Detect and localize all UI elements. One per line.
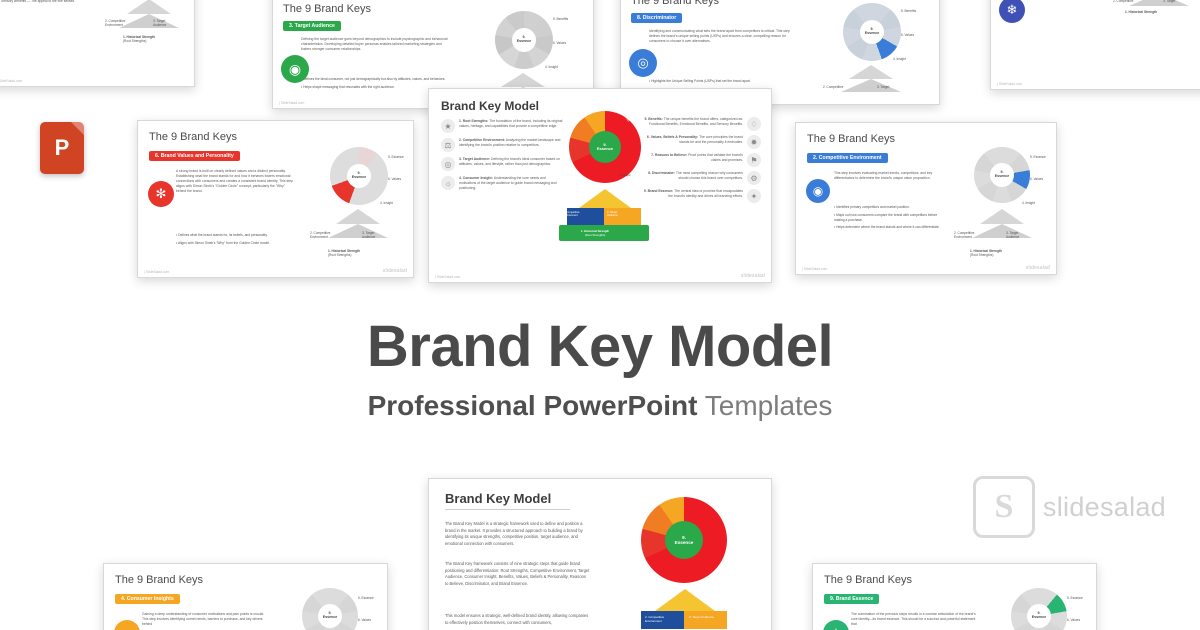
model-point: 9. Brand Essence: The central idea or pr… [639, 189, 761, 203]
slide-footer: | SlideSalad.com [997, 82, 1022, 86]
brand-key-diagram: 9.Essence 1. Root Strengths 5. Benefits … [561, 111, 647, 271]
intro-paragraph: This model ensures a strategic, well-def… [445, 613, 590, 626]
page-subtitle: Professional PowerPoint Templates [0, 390, 1200, 422]
bullet-item: • Identifies primary competitors and mar… [834, 205, 946, 210]
mini-brand-key-diagram: 9.Essence 5. Essence 6. Values 4. Insigh… [306, 143, 414, 265]
donut-ring: 9.Essence [843, 3, 901, 61]
donut-ring: 9.Essence [302, 588, 358, 630]
discriminator-icon: ◎ [629, 49, 657, 77]
competitive-environment-icon: ⚖ [441, 138, 455, 152]
mini-brand-key-diagram: 9.Essence 5. Benefits 6. Values 4. Insig… [101, 0, 193, 61]
model-point: 8. Discriminator: The most compelling re… [639, 171, 761, 185]
donut-center: 9.Essence [990, 163, 1014, 187]
slide-brand-essence[interactable]: The 9 Brand Keys 9. Brand Essence The cu… [812, 563, 1097, 630]
mini-brand-key-diagram: 9.Essence 5. Benefits 6. Values 4. Insig… [1109, 0, 1200, 20]
donut-center: 9.Essence [860, 20, 884, 44]
slide-brand-values[interactable]: The 9 Brand Keys 6. Brand Values and Per… [137, 120, 414, 278]
bullet-item: • Maps out how consumers compare the bra… [834, 213, 946, 223]
slide-intro-brand-key-model[interactable]: Brand Key Model The Brand Key Model is a… [428, 478, 772, 630]
slide-consumer-insights[interactable]: The 9 Brand Keys 4. Consumer Insights Ga… [103, 563, 388, 630]
intro-title: Brand Key Model [445, 491, 570, 510]
slide-paragraph: Identifying and communicating what sets … [649, 29, 799, 44]
slide-footer: | SlideSalad.com [802, 267, 827, 271]
slide-paragraph: This step involves evaluating market tre… [834, 171, 944, 181]
intro-paragraph: The Brand Key framework consists of nine… [445, 561, 590, 587]
bullet-item: • Defines the ideal consumer, not just d… [301, 77, 451, 82]
slide-root-strengths-top[interactable]: The 9 Brand Keys 1. Root Strengths emoti… [0, 0, 195, 87]
essence-icon: ✦ [823, 620, 849, 630]
pyramid-top [579, 189, 631, 208]
slide-title: The 9 Brand Keys [824, 574, 912, 586]
snowflake-icon: ❄ [999, 0, 1025, 23]
slidesalad-logo: S slidesalad [973, 476, 1166, 538]
audience-icon: ◉ [281, 55, 309, 83]
slide-footer: | SlideSalad.com [0, 79, 22, 83]
competitive-icon: ◉ [806, 179, 830, 203]
donut-center: 9.Essence [1027, 604, 1051, 628]
slide-footer: | SlideSalad.com [279, 101, 304, 105]
subtitle-bold: Professional PowerPoint [368, 390, 698, 421]
bullet-item: • Defines what the brand stands for, its… [176, 233, 296, 238]
main-slide-title: Brand Key Model [441, 99, 539, 113]
discriminator-icon: ⚙ [747, 171, 761, 185]
slide-footer: | SlideSalad.com [144, 270, 169, 274]
slide-title: The 9 Brand Keys [283, 3, 371, 15]
donut-center: 9.Essence [318, 604, 342, 628]
benefits-icon: ♢ [747, 117, 761, 131]
model-point: ☼ 4. Consumer Insight: Understanding the… [441, 176, 563, 191]
pyramid-top [655, 589, 715, 611]
donut-ring: 9.Essence [641, 497, 727, 583]
slide-paragraph: Gaining a deep understanding of consumer… [142, 612, 267, 627]
donut-center: 9.Essence [665, 521, 703, 559]
slidesalad-mark: S [973, 476, 1035, 538]
slide-brand-key-model-main[interactable]: Brand Key Model ★ 1. Root Strengths: The… [428, 88, 772, 283]
bullet-item: • Sensory Benefits — The appeal to the f… [0, 0, 107, 3]
subtitle-light: Templates [705, 390, 833, 421]
brand-key-diagram: 9.Essence 2. CompetitiveEnvironment 3. T… [619, 497, 759, 630]
donut-ring: 9.Essence [974, 147, 1030, 203]
slide-reasons-to-believe-top[interactable]: 7. Reasons To Believe and legacy helps m… [990, 0, 1200, 90]
model-point: 7. Reasons to Believe: Proof points that… [639, 153, 761, 167]
root-strengths-icon: ★ [441, 119, 455, 133]
chip-label: 2. Competitive Environment [807, 153, 888, 163]
mini-brand-key-diagram: 9.Essence 5. Essence 6. Values 4. Insigh… [280, 584, 386, 630]
key-chip: 9. Brand Essence [824, 594, 879, 604]
intro-paragraph: The Brand Key Model is a strategic frame… [445, 521, 590, 547]
slide-title: The 9 Brand Keys [115, 574, 203, 586]
powerpoint-icon: P [40, 122, 84, 174]
brand-essence-icon: ✦ [747, 189, 761, 203]
slide-paragraph: A strong brand is built on clearly defin… [176, 169, 296, 195]
mini-brand-key-diagram: 9.Essence 5. Essence 6. Values 4. Insigh… [952, 143, 1057, 265]
chip-label: 4. Consumer Insights [115, 594, 180, 604]
chip-label: 3. Target Audience [283, 21, 341, 31]
ppt-fold [71, 122, 84, 135]
slide-title: The 9 Brand Keys [149, 131, 237, 143]
key-chip: 3. Target Audience [283, 21, 341, 31]
target-audience-icon: ◎ [441, 157, 455, 171]
bullet-item: • Highlights the Unique Selling Points (… [649, 79, 799, 84]
slide-title: The 9 Brand Keys [631, 0, 719, 7]
bullet-item: • Aligns with Simon Sinek's "Why" from t… [176, 241, 296, 246]
chip-label: 8. Discriminator [631, 13, 682, 23]
slide-competitive-environment[interactable]: The 9 Brand Keys 2. Competitive Environm… [795, 122, 1057, 275]
bullet-item: • Helps determine where the brand stands… [834, 225, 946, 230]
values-icon: ✻ [148, 181, 174, 207]
chip-label: 6. Brand Values and Personality [149, 151, 240, 161]
donut-ring: 9.Essence [1011, 588, 1067, 630]
donut-center: 9.Essence [512, 28, 536, 52]
donut-ring: 9.Essence [495, 11, 553, 69]
poster-stage: The 9 Brand Keys 1. Root Strengths emoti… [0, 0, 1200, 630]
model-point: ◎ 3. Target Audience: Defining the brand… [441, 157, 563, 171]
donut-center: 9.Essence [589, 131, 621, 163]
consumer-insight-icon: ☼ [441, 176, 455, 190]
hero-block: Brand Key Model Professional PowerPoint … [0, 318, 1200, 422]
model-point: 6. Values, Beliefs & Personality: The co… [639, 135, 761, 149]
slide-brandmark: slidesalad [1026, 265, 1050, 271]
model-point: ★ 1. Root Strengths: The foundation of t… [441, 119, 563, 133]
reasons-to-believe-icon: ⚑ [747, 153, 761, 167]
key-chip: 8. Discriminator [631, 13, 682, 23]
slide-paragraph: Defining the target audience goes beyond… [301, 37, 451, 52]
powerpoint-letter: P [55, 135, 70, 161]
slide-paragraph: The culmination of the previous steps re… [851, 612, 976, 627]
slide-brandmark: slidesalad [741, 273, 765, 279]
slide-footer: | SlideSalad.com [435, 275, 460, 279]
chip-label: 9. Brand Essence [824, 594, 879, 604]
mini-brand-key-diagram: 9.Essence 5. Benefits 6. Values 4. Insig… [817, 0, 937, 99]
donut-ring: 9.Essence [330, 147, 388, 205]
slide-brandmark: slidesalad [383, 268, 407, 274]
slidesalad-wordmark: slidesalad [1043, 492, 1166, 523]
model-point: 5. Benefits: The unique benefits the bra… [639, 117, 761, 131]
key-chip: 4. Consumer Insights [115, 594, 180, 604]
mini-brand-key-diagram: 9.Essence 5. Essence 6. Values 4. Insigh… [989, 584, 1095, 630]
donut-center: 9.Essence [347, 164, 371, 188]
slide-title: The 9 Brand Keys [807, 133, 895, 145]
key-chip: 2. Competitive Environment [807, 153, 888, 163]
model-point: ⚖ 2. Competitive Environment: Analyzing … [441, 138, 563, 152]
page-title: Brand Key Model [0, 318, 1200, 376]
values-beliefs-icon: ✹ [747, 135, 761, 149]
insights-icon: ☼ [114, 620, 140, 630]
key-chip: 6. Brand Values and Personality [149, 151, 240, 161]
